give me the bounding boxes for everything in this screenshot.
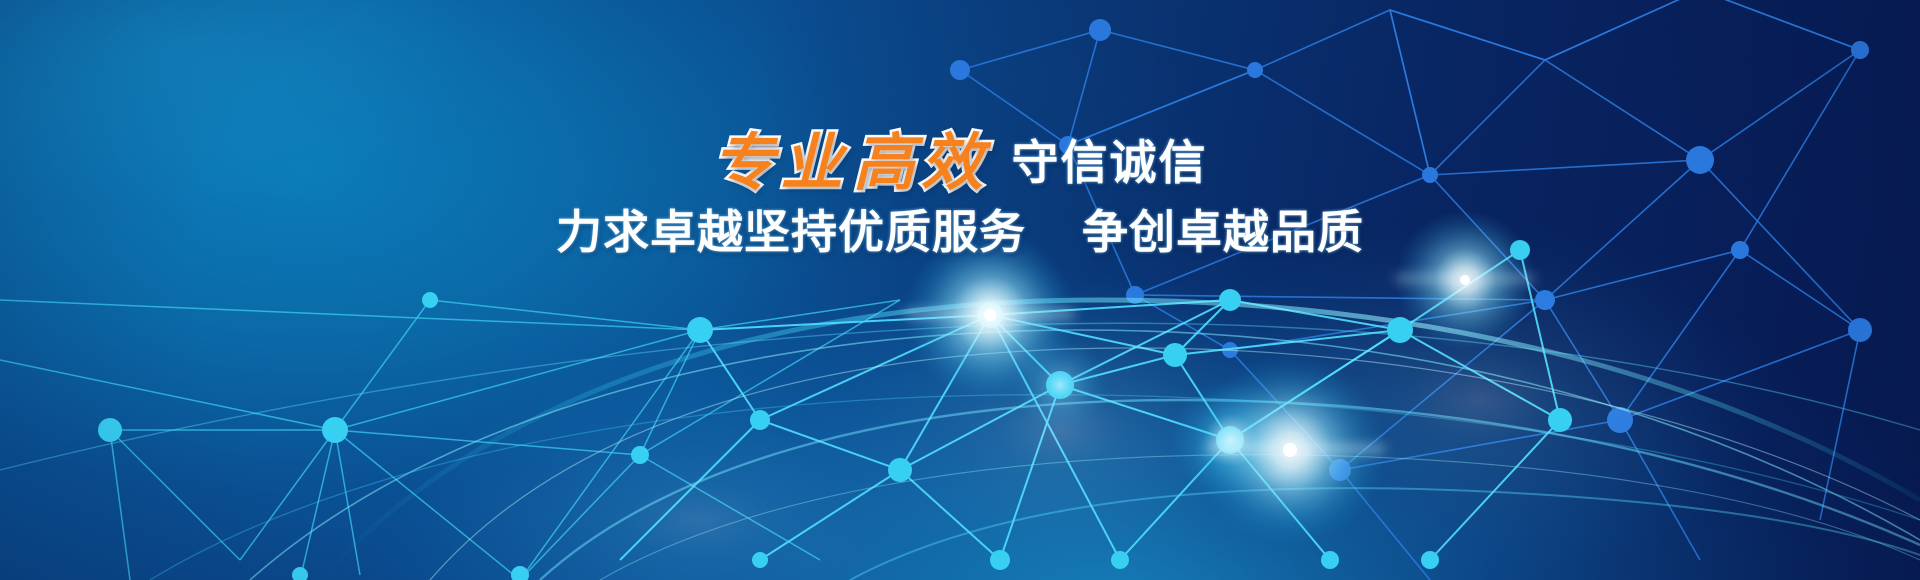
promo-banner: 专业 高效 守信诚信 力求卓越坚持优质服务 争创卓越品质	[0, 0, 1920, 580]
background-vignette	[0, 0, 1920, 580]
